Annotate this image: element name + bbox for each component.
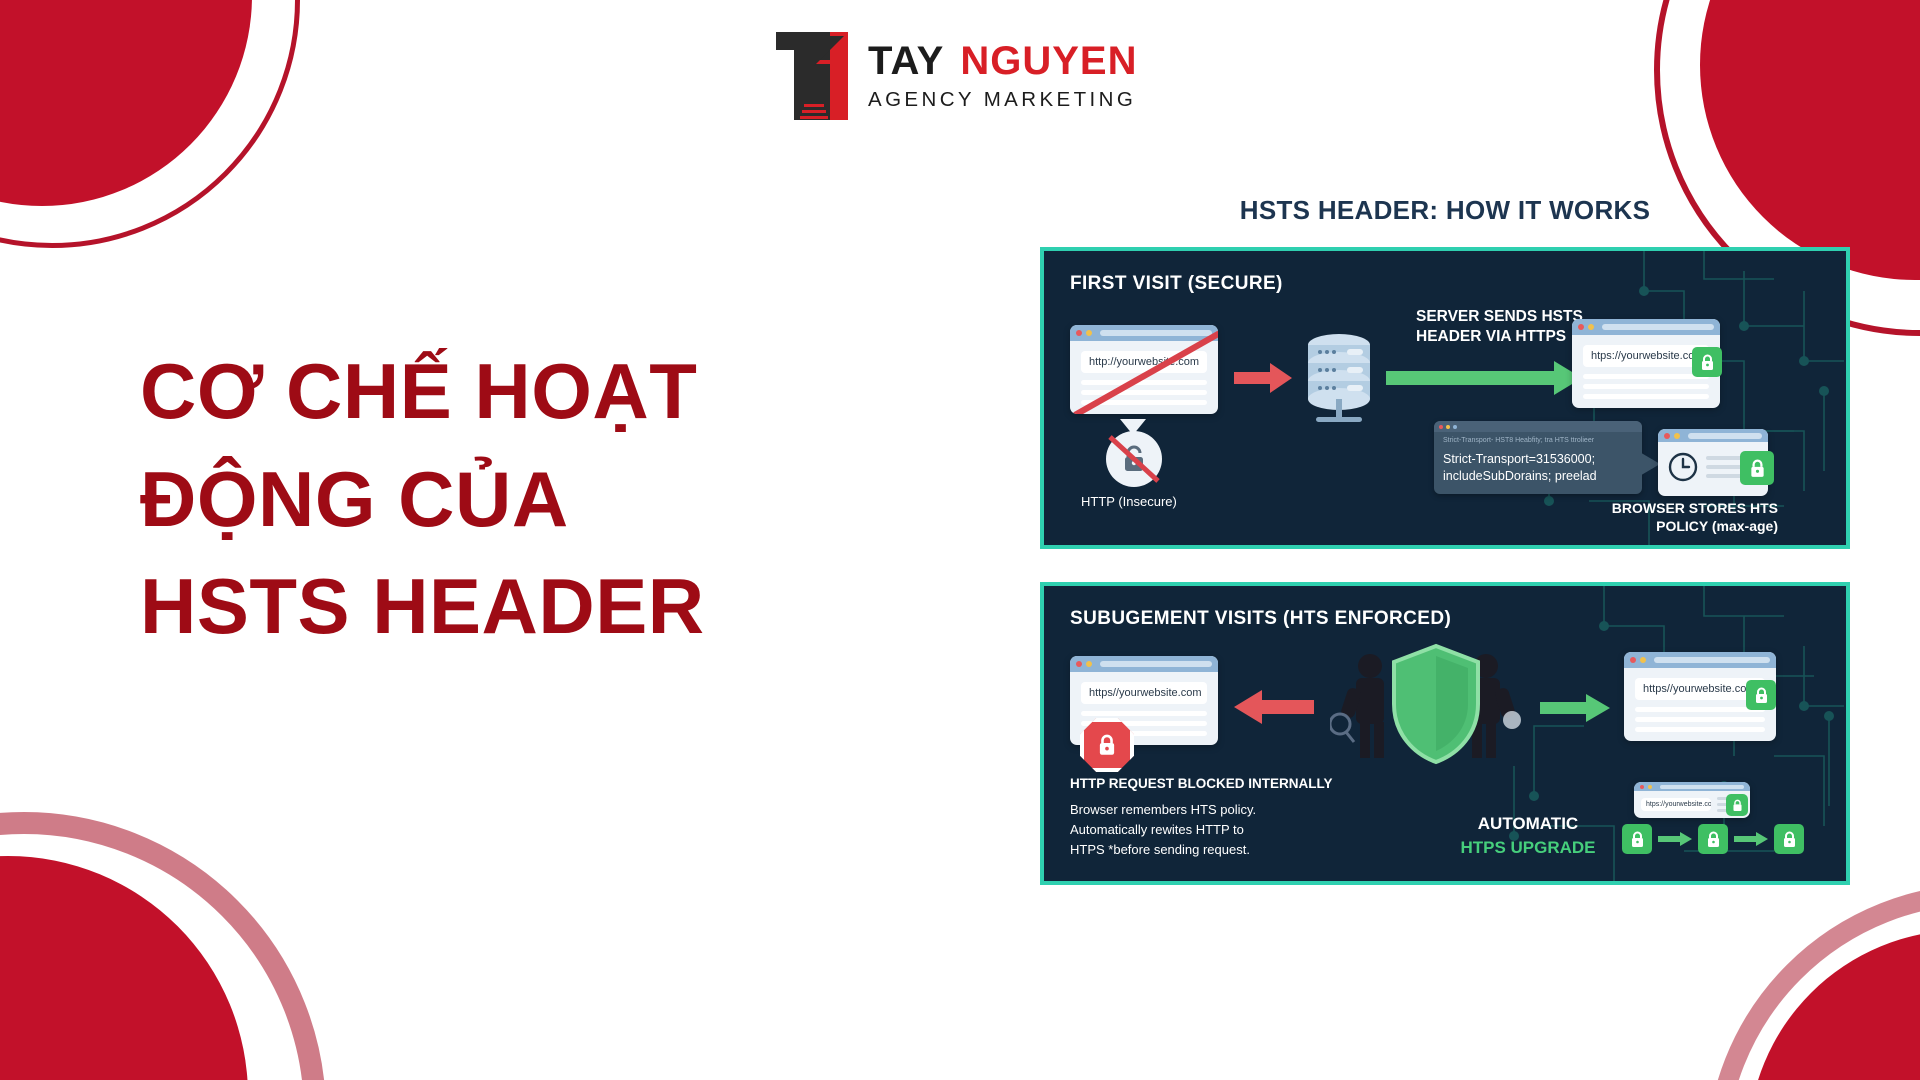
panel-first-visit: FIRST VISIT (SECURE) http://yourwebsite.… [1040,247,1850,549]
brand-logo: TAY NGUYEN AGENCY MARKETING [768,30,1138,122]
close-dot-icon [1076,661,1082,667]
callout-pointer-icon [1638,451,1660,477]
url-mini: htps://yourwebsite.com [1641,798,1711,811]
lock-icon [1782,831,1797,848]
brand-name-part1: TAY [868,41,944,81]
brand-tagline: AGENCY MARKETING [868,90,1138,111]
codebox-text: Strict-Transport=31536000; includeSubDor… [1434,446,1642,494]
decor-arc-bottom-left [0,812,326,1080]
close-dot-icon [1630,657,1636,663]
label-htps-upgrade: HTPS UPGRADE [1448,838,1608,858]
panel-subsequent-visits: SUBUGEMENT VISITS (HTS ENFORCED) https//… [1040,582,1850,885]
brand-text: TAY NGUYEN AGENCY MARKETING [868,41,1138,111]
panel1-heading: FIRST VISIT (SECURE) [1070,273,1283,295]
label-server-sends-line1: SERVER SENDS HSTS [1416,307,1583,327]
maximize-dot-icon [1453,425,1457,429]
decor-arc-top-left [0,0,300,248]
infographic: HSTS HEADER: HOW IT WORKS [1040,195,1850,885]
database-server-icon [1302,331,1376,427]
lock-icon [1754,687,1769,704]
strikethrough-icon [1102,427,1166,491]
brand-name-part2: NGUYEN [960,41,1137,81]
lock-icon-secure [1692,347,1722,377]
blocked-body-line1: Browser remembers HTS policy. [1070,800,1256,820]
lock-icon [1097,734,1117,756]
decor-circle-bottom-right [1748,930,1920,1080]
close-dot-icon [1664,433,1670,439]
addressbar-placeholder [1688,433,1762,439]
insecure-lock-bubble [1106,431,1162,487]
lock-icon [1700,354,1715,371]
page-title-line-1: CƠ CHẾ HOẠT [140,338,940,446]
label-browser-stores-line1: BROWSER STORES HTS [1586,499,1778,517]
lock-step-2 [1698,824,1728,854]
lock-icon [1706,831,1721,848]
label-blocked-body: Browser remembers HTS policy. Automatica… [1070,800,1256,860]
arrow-right-red-icon [1234,363,1292,393]
page-title-line-3: HSTS HEADER [140,553,940,661]
arrow-right-green-icon [1734,832,1768,846]
poster-canvas: TAY NGUYEN AGENCY MARKETING CƠ CHẾ HOẠT … [0,0,1920,1080]
hsts-header-code-box: Strict-Transport- HST8 Heabfity; tra HTS… [1434,421,1642,494]
panel2-heading: SUBUGEMENT VISITS (HTS ENFORCED) [1070,608,1451,630]
minimize-dot-icon [1446,425,1450,429]
label-browser-stores-line2: POLICY (max-age) [1586,517,1778,535]
minimize-dot-icon [1648,785,1652,789]
decor-circle-top-left [0,0,252,206]
minimize-dot-icon [1640,657,1646,663]
browser-titlebar [1624,652,1776,668]
page-title-line-2: ĐỘNG CỦA [140,446,940,554]
infographic-title: HSTS HEADER: HOW IT WORKS [1040,195,1850,226]
codebox-titlebar [1434,421,1642,432]
browser-insecure[interactable]: http://yourwebsite.com [1070,325,1218,414]
blocked-body-line2: Automatically rewites HTTP to [1070,820,1256,840]
minimize-dot-icon [1588,324,1594,330]
arrow-right-green-icon [1540,694,1610,722]
close-dot-icon [1578,324,1584,330]
lock-icon-enforced [1746,680,1776,710]
addressbar-placeholder [1602,324,1714,330]
lock-step-1 [1622,824,1652,854]
lock-step-3 [1774,824,1804,854]
minimize-dot-icon [1674,433,1680,439]
lock-icon-mini [1726,794,1748,816]
url-blocked: https//yourwebsite.com [1081,682,1207,704]
minimize-dot-icon [1086,661,1092,667]
lock-chain-icon [1622,824,1804,854]
content-lines [1583,374,1709,399]
lock-icon [1732,799,1743,812]
page-title: CƠ CHẾ HOẠT ĐỘNG CỦA HSTS HEADER [140,338,940,661]
label-http-insecure: HTTP (Insecure) [1081,494,1177,509]
tn-monogram-icon [768,30,852,122]
label-blocked-title: HTTP REQUEST BLOCKED INTERNALLY [1070,776,1333,791]
label-server-sends-line2: HEADER VIA HTTPS [1416,327,1583,347]
decor-circle-bottom-left [0,856,248,1080]
browser-titlebar [1572,319,1720,335]
close-dot-icon [1439,425,1443,429]
strikethrough-icon [1070,325,1218,414]
blocked-body-line3: HTPS *before sending request. [1070,840,1256,860]
addressbar-placeholder [1654,657,1770,663]
content-lines [1635,707,1765,732]
lock-icon-policy [1740,451,1774,485]
browser-titlebar [1070,656,1218,672]
label-automatic: AUTOMATIC [1448,814,1608,834]
clock-icon [1668,452,1698,482]
arrow-right-green-icon [1658,832,1692,846]
browser-titlebar [1634,782,1750,791]
shield-icon [1388,642,1484,766]
browser-titlebar [1658,429,1768,442]
label-server-sends: SERVER SENDS HSTS HEADER VIA HTTPS [1416,307,1583,348]
lock-icon [1630,831,1645,848]
arrow-left-red-icon [1234,690,1314,724]
close-dot-icon [1640,785,1644,789]
arrow-right-green-icon [1386,361,1582,395]
code-line-1: Strict-Transport=31536000; [1443,451,1633,468]
addressbar-placeholder [1100,661,1212,667]
label-browser-stores: BROWSER STORES HTS POLICY (max-age) [1586,499,1778,535]
decor-arc-bottom-right [1706,884,1920,1080]
code-line-2: includeSubDorains; preelad [1443,468,1633,485]
lock-icon [1749,459,1766,478]
url-secure: htps://yourwebsite.co [1583,345,1709,367]
addressbar-placeholder [1660,785,1744,789]
codebox-ghost-text: Strict-Transport- HST8 Heabfity; tra HTS… [1434,432,1642,446]
